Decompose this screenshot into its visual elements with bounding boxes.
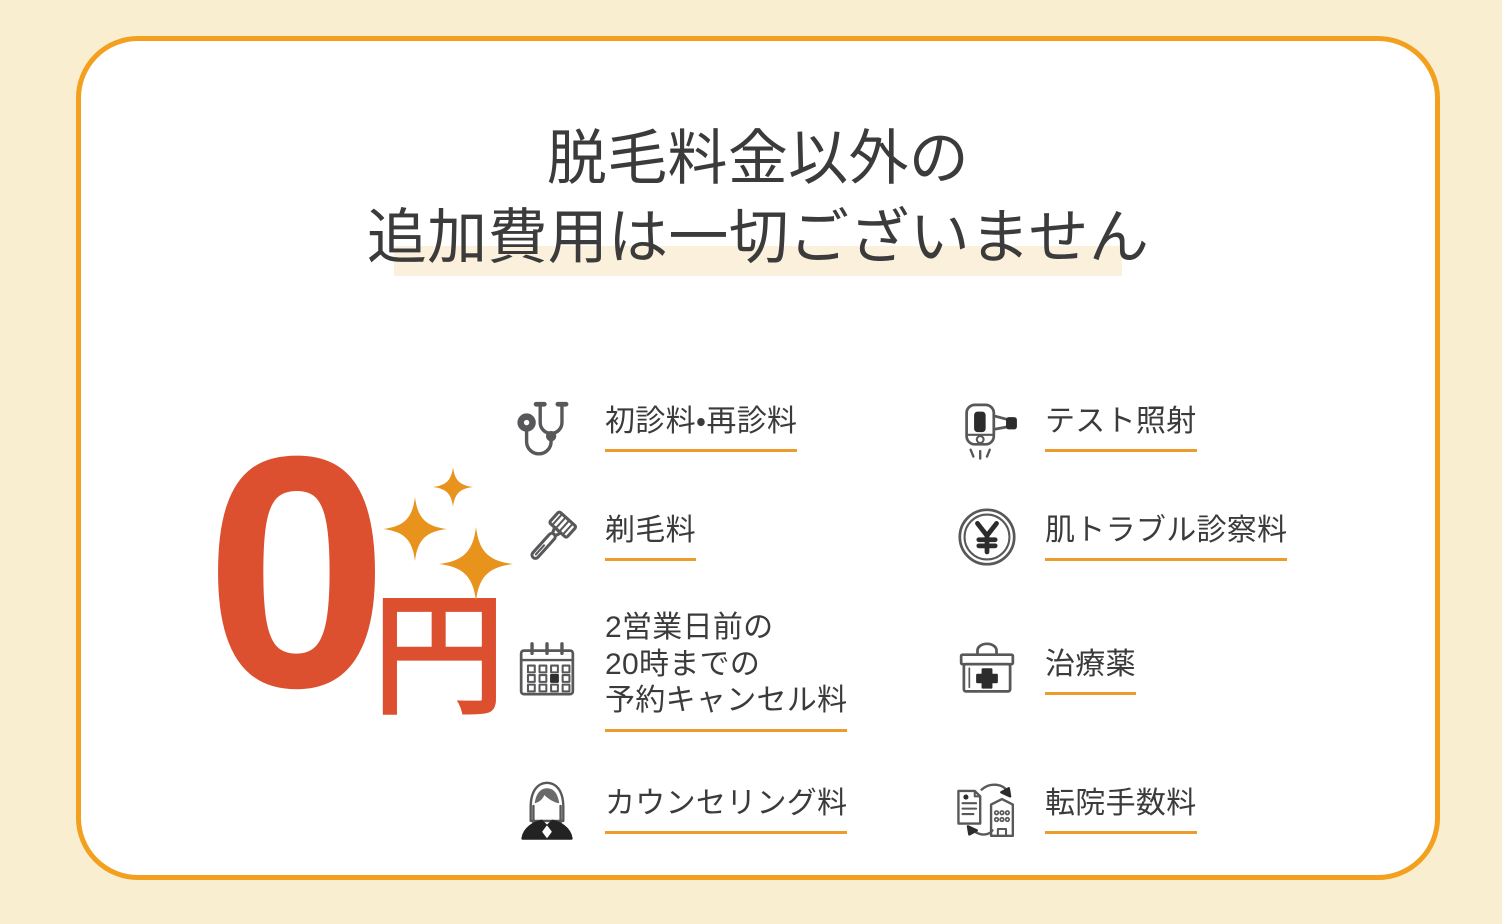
feature-item-transfer-fee[interactable]: 転院手数料	[951, 751, 1391, 869]
feature-label: 転院手数料	[1045, 786, 1197, 835]
feature-item-shaving-fee[interactable]: 剃毛料	[511, 483, 951, 591]
yen-coin-icon	[951, 501, 1023, 573]
feature-column-right: テスト照射	[951, 373, 1391, 869]
first-aid-kit-icon	[951, 635, 1023, 707]
headline-line-2-text: 追加費用は一切ございません	[367, 204, 1149, 271]
razor-icon	[511, 501, 583, 573]
stethoscope-icon	[511, 392, 583, 464]
counselor-icon	[511, 774, 583, 846]
clinic-transfer-icon	[951, 774, 1023, 846]
feature-label: 剃毛料	[605, 513, 696, 562]
feature-label: カウンセリング料	[605, 786, 847, 835]
price-block: 0 円	[201, 441, 561, 731]
sparkle-large-icon	[439, 527, 513, 601]
feature-label: 初診料・再診料	[605, 404, 797, 453]
headline-line-1: 脱毛料金以外の	[81, 119, 1435, 198]
headline: 脱毛料金以外の 追加費用は一切ございません	[81, 119, 1435, 277]
feature-item-skin-trouble-fee[interactable]: 肌トラブル診察料	[951, 483, 1391, 591]
feature-label: 2営業日前の 20時までの 予約キャンセル料	[605, 610, 847, 732]
feature-item-cancellation-fee[interactable]: 2営業日前の 20時までの 予約キャンセル料	[511, 591, 951, 751]
laser-handpiece-icon	[951, 392, 1023, 464]
price-unit: 円	[373, 591, 505, 723]
poster-stage: 脱毛料金以外の 追加費用は一切ございません 0 円	[0, 0, 1502, 924]
content-card: 脱毛料金以外の 追加費用は一切ございません 0 円	[76, 36, 1440, 880]
feature-item-first-visit-fee[interactable]: 初診料・再診料	[511, 373, 951, 483]
feature-item-test-irradiation[interactable]: テスト照射	[951, 373, 1391, 483]
price-amount: 0	[205, 407, 382, 737]
feature-label: 肌トラブル診察料	[1045, 513, 1287, 562]
feature-column-left: 初診料・再診料	[511, 373, 951, 869]
sparkle-medium-icon	[383, 497, 447, 561]
feature-label: 治療薬	[1045, 647, 1136, 696]
headline-line-1-text: 脱毛料金以外の	[547, 125, 969, 192]
headline-line-2: 追加費用は一切ございません	[81, 198, 1435, 277]
feature-item-counseling-fee[interactable]: カウンセリング料	[511, 751, 951, 869]
included-services-list: 初診料・再診料	[511, 373, 1391, 869]
feature-item-medication[interactable]: 治療薬	[951, 591, 1391, 751]
feature-label: テスト照射	[1045, 404, 1197, 453]
calendar-icon	[511, 635, 583, 707]
